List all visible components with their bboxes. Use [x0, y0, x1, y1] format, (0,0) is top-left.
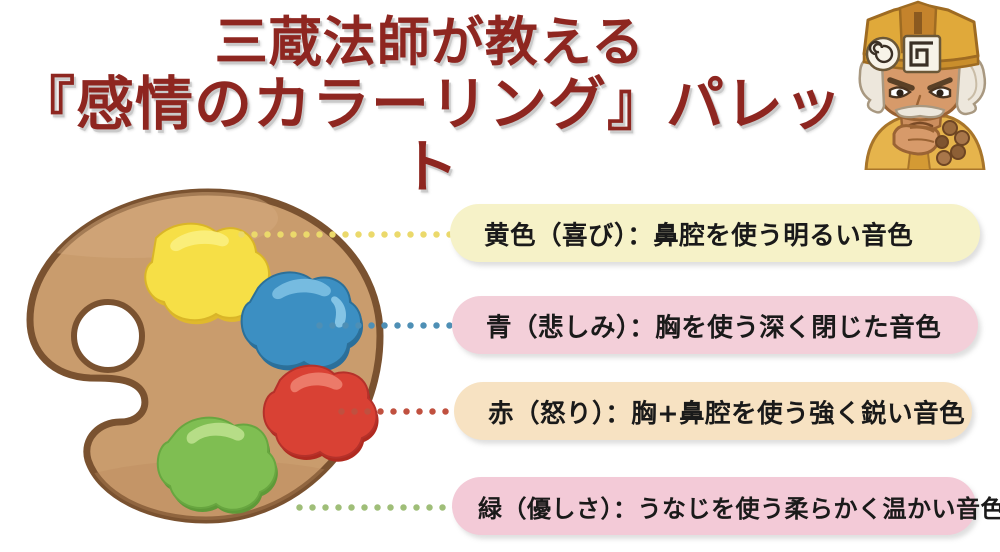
label-pill-blue[interactable]: 青（悲しみ）：胸を使う深く閉じた音色 [452, 296, 978, 354]
infographic-canvas: 三蔵法師が教える 『感情のカラーリング』パレット [0, 0, 1000, 552]
label-text-blue: 青（悲しみ）：胸を使う深く閉じた音色 [486, 307, 941, 344]
square-spiral-emblem-icon [904, 36, 940, 72]
green-connector [296, 504, 462, 511]
label-text-red: 赤（怒り）：胸+鼻腔を使う強く鋭い音色 [488, 393, 965, 430]
label-pill-red[interactable]: 赤（怒り）：胸+鼻腔を使う強く鋭い音色 [454, 382, 972, 440]
label-pill-green[interactable]: 緑（優しさ）：うなじを使う柔らかく温かい音色 [452, 477, 976, 535]
red-connector [338, 408, 462, 415]
yellow-connector [238, 231, 460, 238]
label-text-green: 緑（優しさ）：うなじを使う柔らかく温かい音色 [478, 489, 1000, 524]
blue-connector [316, 322, 460, 329]
title-line-1: 三蔵法師が教える [0, 14, 860, 71]
page-title: 三蔵法師が教える 『感情のカラーリング』パレット [0, 14, 860, 198]
palette-thumb-hole [74, 302, 142, 370]
label-pill-yellow[interactable]: 黄色（喜び）：鼻腔を使う明るい音色 [450, 204, 980, 262]
spiral-emblem-icon [867, 38, 899, 70]
monk-character-illustration [838, 0, 1000, 170]
label-text-yellow: 黄色（喜び）：鼻腔を使う明るい音色 [484, 215, 913, 252]
